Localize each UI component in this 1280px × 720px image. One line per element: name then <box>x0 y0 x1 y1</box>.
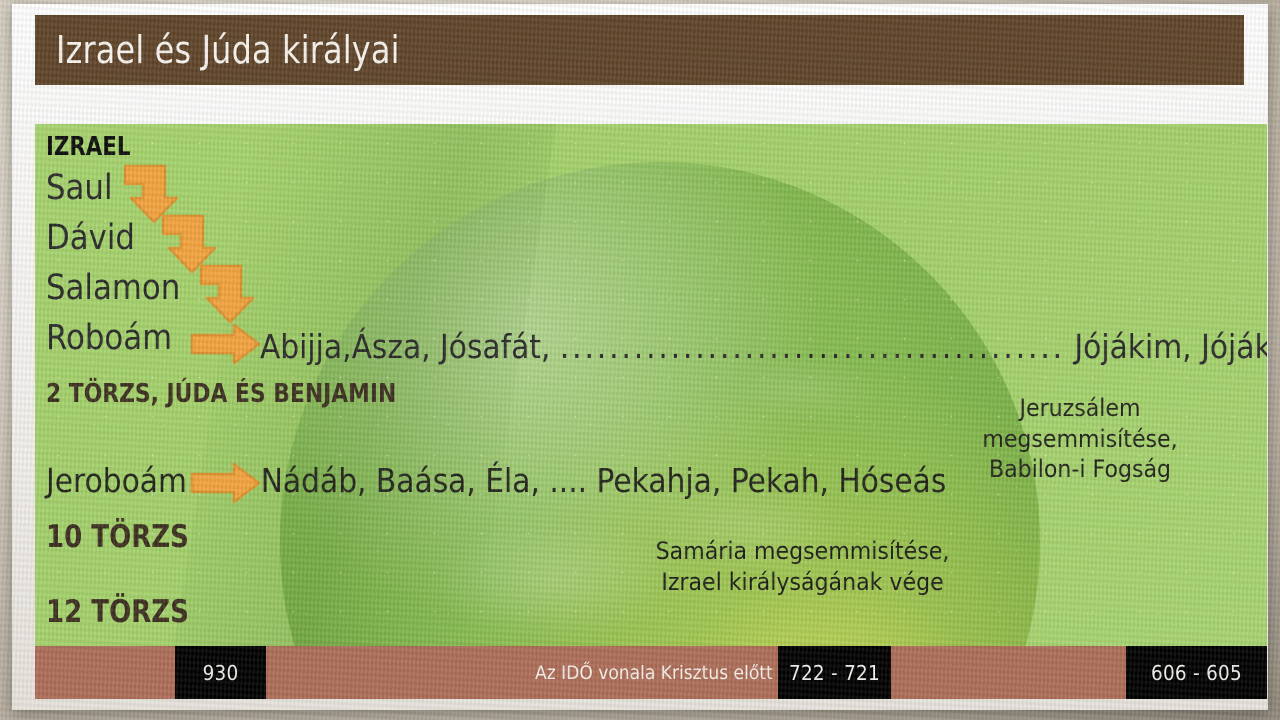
page-title: Izrael és Júda királyai <box>56 28 400 72</box>
israel-kings-line: JeroboámNádáb, Baása, Éla, .... Pekahja,… <box>46 461 946 500</box>
jerusalem-note-line-2: Babilon-i Fogság <box>928 454 1232 485</box>
slide-title-bar: Izrael és Júda királyai <box>35 15 1244 85</box>
timeline-bar: Az IDŐ vonala Krisztus előtt 930 722 - 7… <box>35 646 1267 699</box>
content-panel: IZRAEL Saul Dávid Salamon Roboám <box>35 124 1267 646</box>
elbow-arrow-icon-3 <box>199 264 261 326</box>
judah-kings-line: Abijja,Ásza, Jósafát, ..................… <box>260 327 1267 366</box>
slide-surface: Izrael és Júda királyai IZRAEL Saul Dávi… <box>12 4 1268 710</box>
judah-kings-before: Abijja,Ásza, Jósafát, <box>260 327 560 366</box>
timeline-mark-930: 930 <box>175 646 266 699</box>
king-name-roboam: Roboám <box>46 318 172 358</box>
israel-successor-kings: Nádáb, Baása, Éla, .... Pekahja, Pekah, … <box>261 461 947 500</box>
timeline-mark-606-605: 606 - 605 <box>1126 646 1267 699</box>
timeline-mark-722-721: 722 - 721 <box>778 646 891 699</box>
judah-kings-after: Jójákim, Jójákin, Sedékiás <box>1065 327 1267 366</box>
timeline-mark-722-721-label: 722 - 721 <box>789 661 880 685</box>
israel-tribes-label: 10 TÖRZS <box>46 519 189 555</box>
right-arrow-icon-judah <box>190 322 262 366</box>
king-name-saul: Saul <box>46 168 113 208</box>
timeline-mark-606-605-label: 606 - 605 <box>1151 661 1242 685</box>
judah-tribes-label: 2 TÖRZS, JÚDA ÉS BENJAMIN <box>46 379 396 409</box>
king-name-david: Dávid <box>46 218 135 258</box>
samaria-note-line-1: Samária megsemmisítése, <box>644 536 961 567</box>
samaria-note-line-2: Izrael királyságának vége <box>644 567 961 598</box>
israel-first-king: Jeroboám <box>46 461 187 500</box>
jerusalem-destruction-note: Jeruzsálem megsemmisítése, Babilon-i Fog… <box>928 393 1232 485</box>
timeline-caption: Az IDŐ vonala Krisztus előtt <box>535 646 773 699</box>
izrael-heading: IZRAEL <box>46 132 130 162</box>
samaria-destruction-note: Samária megsemmisítése, Izrael királyság… <box>644 536 961 598</box>
timeline-mark-930-label: 930 <box>203 661 239 685</box>
total-tribes-label: 12 TÖRZS <box>46 594 189 630</box>
panel-content: IZRAEL Saul Dávid Salamon Roboám <box>35 124 1267 646</box>
judah-kings-dots: ........................................… <box>560 327 1065 366</box>
jerusalem-note-line-1: Jeruzsálem megsemmisítése, <box>928 393 1232 454</box>
desk-backdrop: Izrael és Júda királyai IZRAEL Saul Dávi… <box>0 0 1280 720</box>
